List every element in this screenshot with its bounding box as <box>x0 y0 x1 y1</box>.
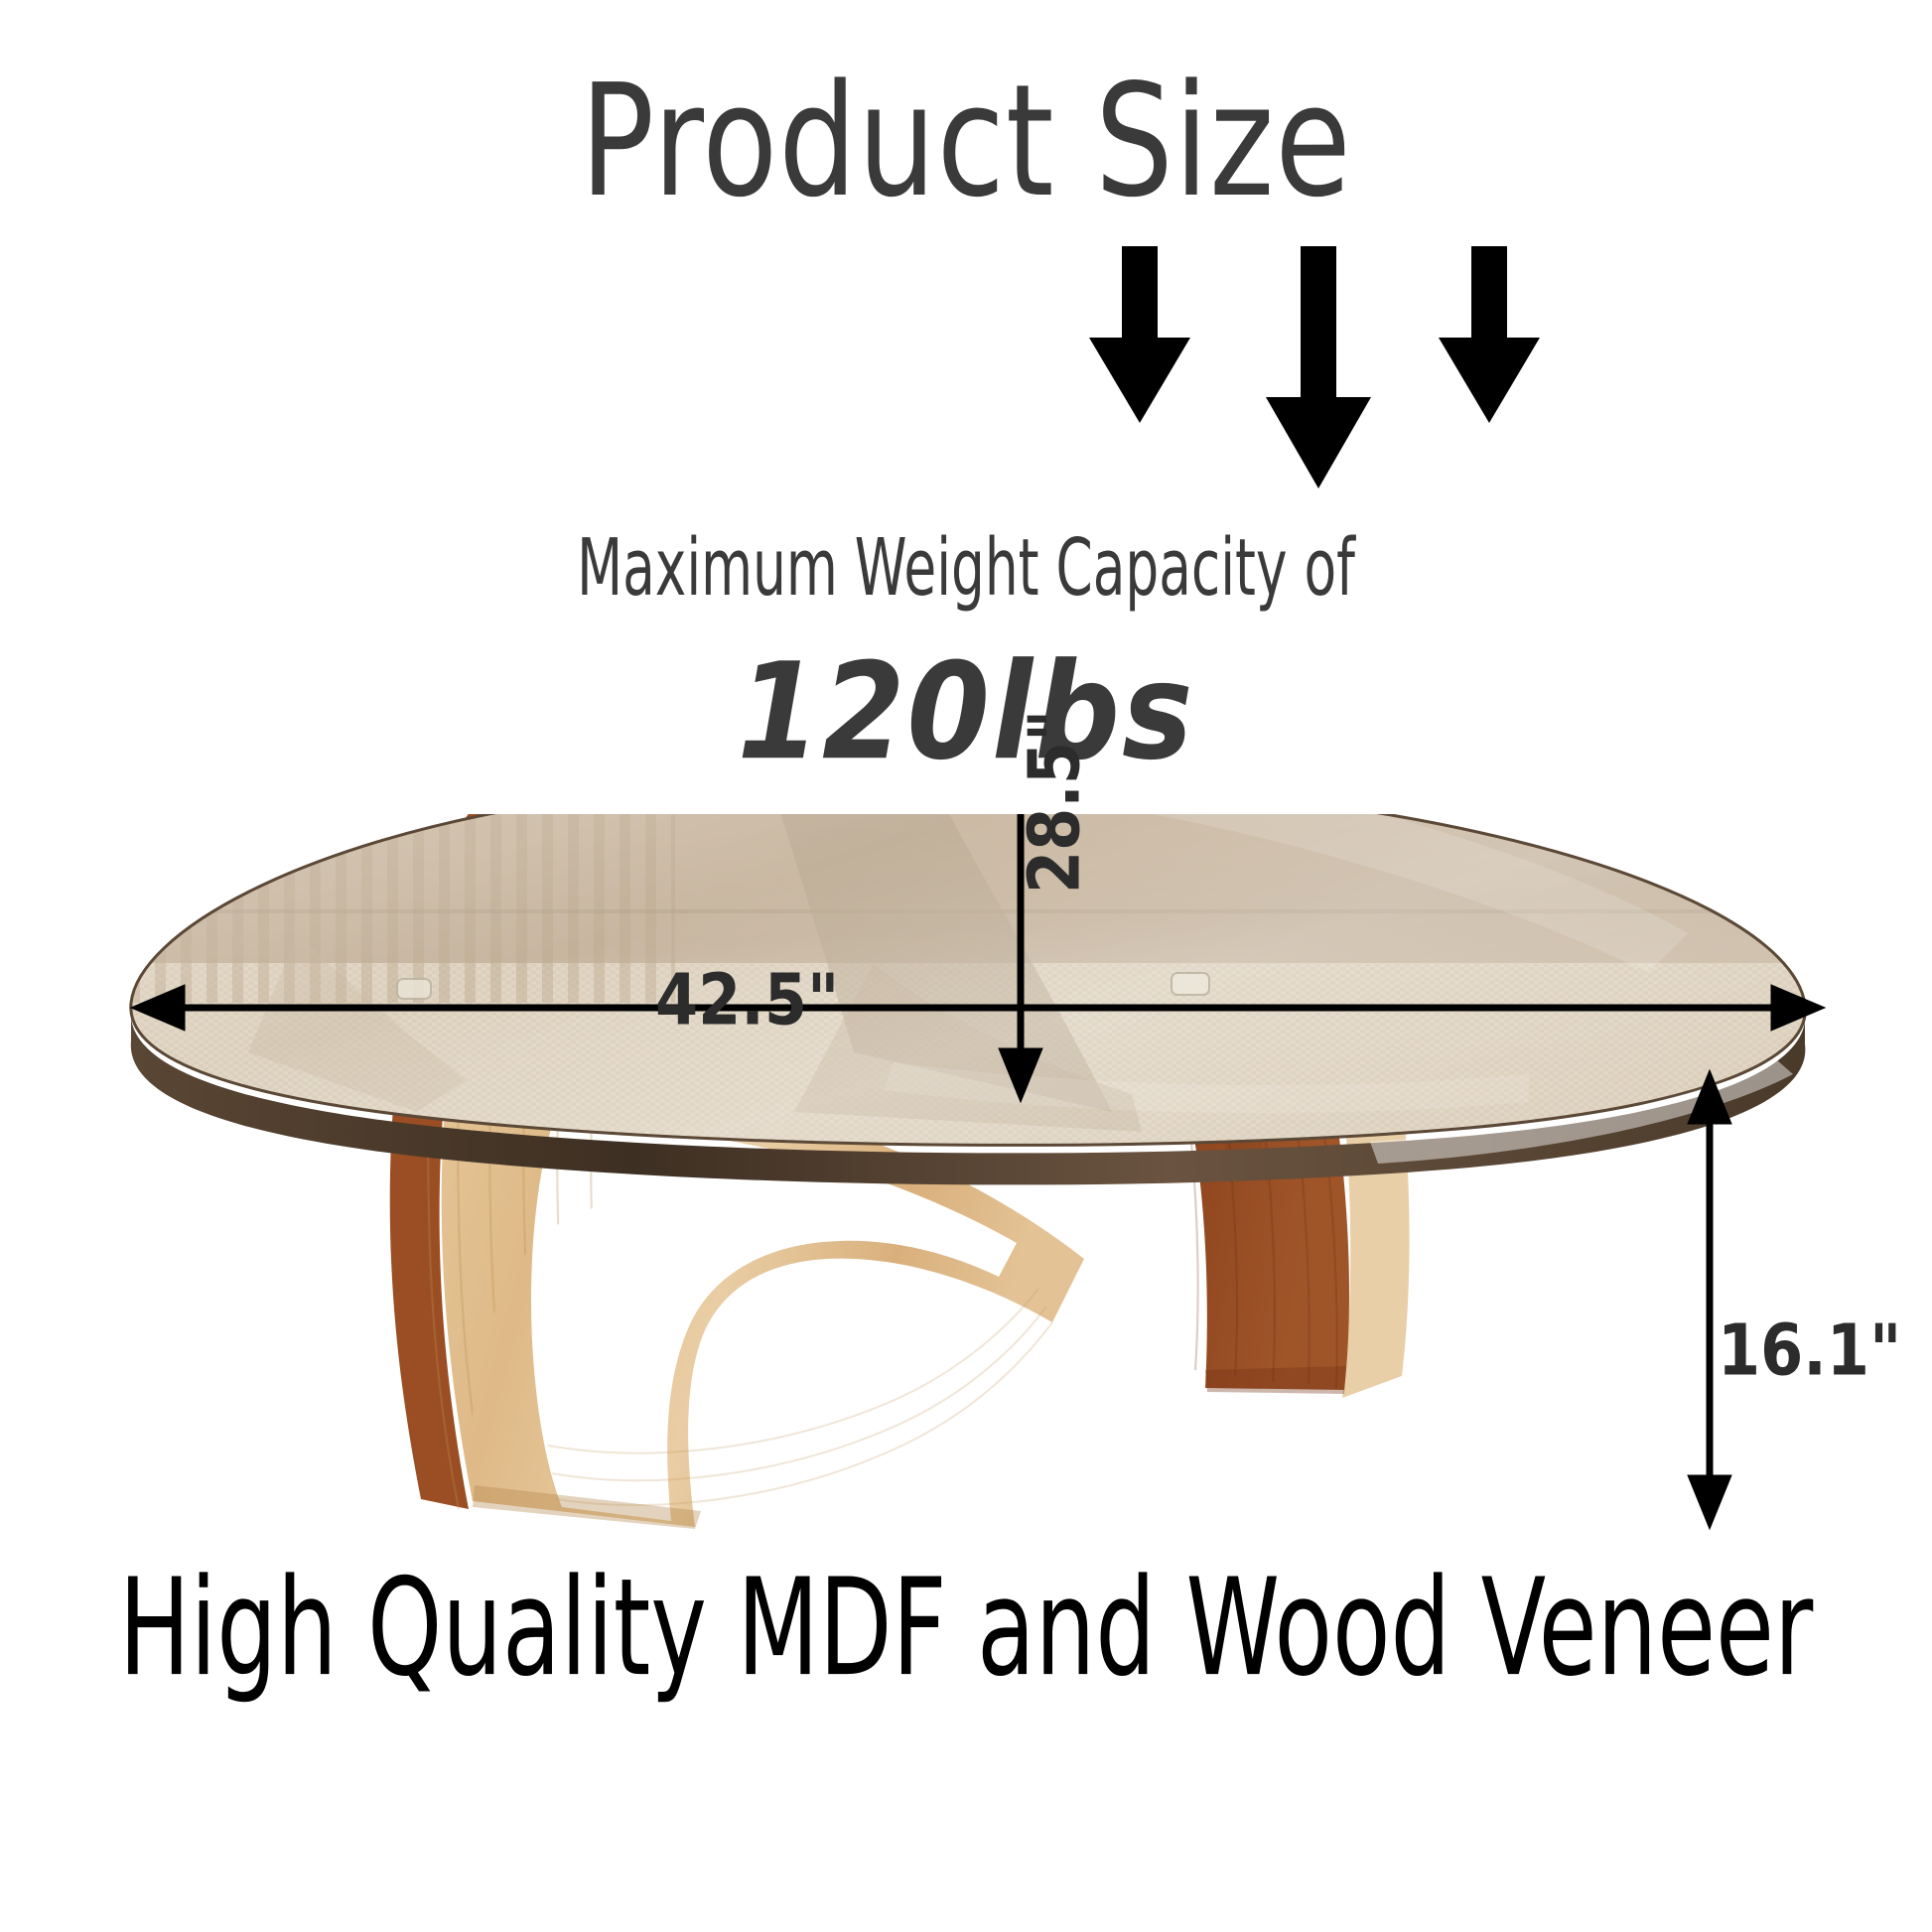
weight-capacity-value: 120lbs <box>0 635 1932 790</box>
material-footer-text: High Quality MDF and Wood Veneer <box>77 1549 1855 1707</box>
down-arrow-right <box>1439 246 1540 423</box>
width-dimension-label: 42.5" <box>655 958 839 1041</box>
down-arrow-center <box>1266 246 1371 488</box>
down-arrow-left <box>1089 246 1190 423</box>
height-dimension-arrow <box>1688 1070 1731 1529</box>
height-dimension-label: 16.1" <box>1718 1309 1901 1392</box>
glass-table-top <box>0 814 1932 1191</box>
depth-dimension-label: 28.5" <box>1013 710 1096 894</box>
weight-capacity-subtitle: Maximum Weight Capacity of <box>135 521 1797 614</box>
product-illustration <box>0 814 1932 1549</box>
infographic-canvas: Product Size Maximum Weight Capacity of … <box>0 0 1932 1932</box>
page-title: Product Size <box>29 52 1903 232</box>
